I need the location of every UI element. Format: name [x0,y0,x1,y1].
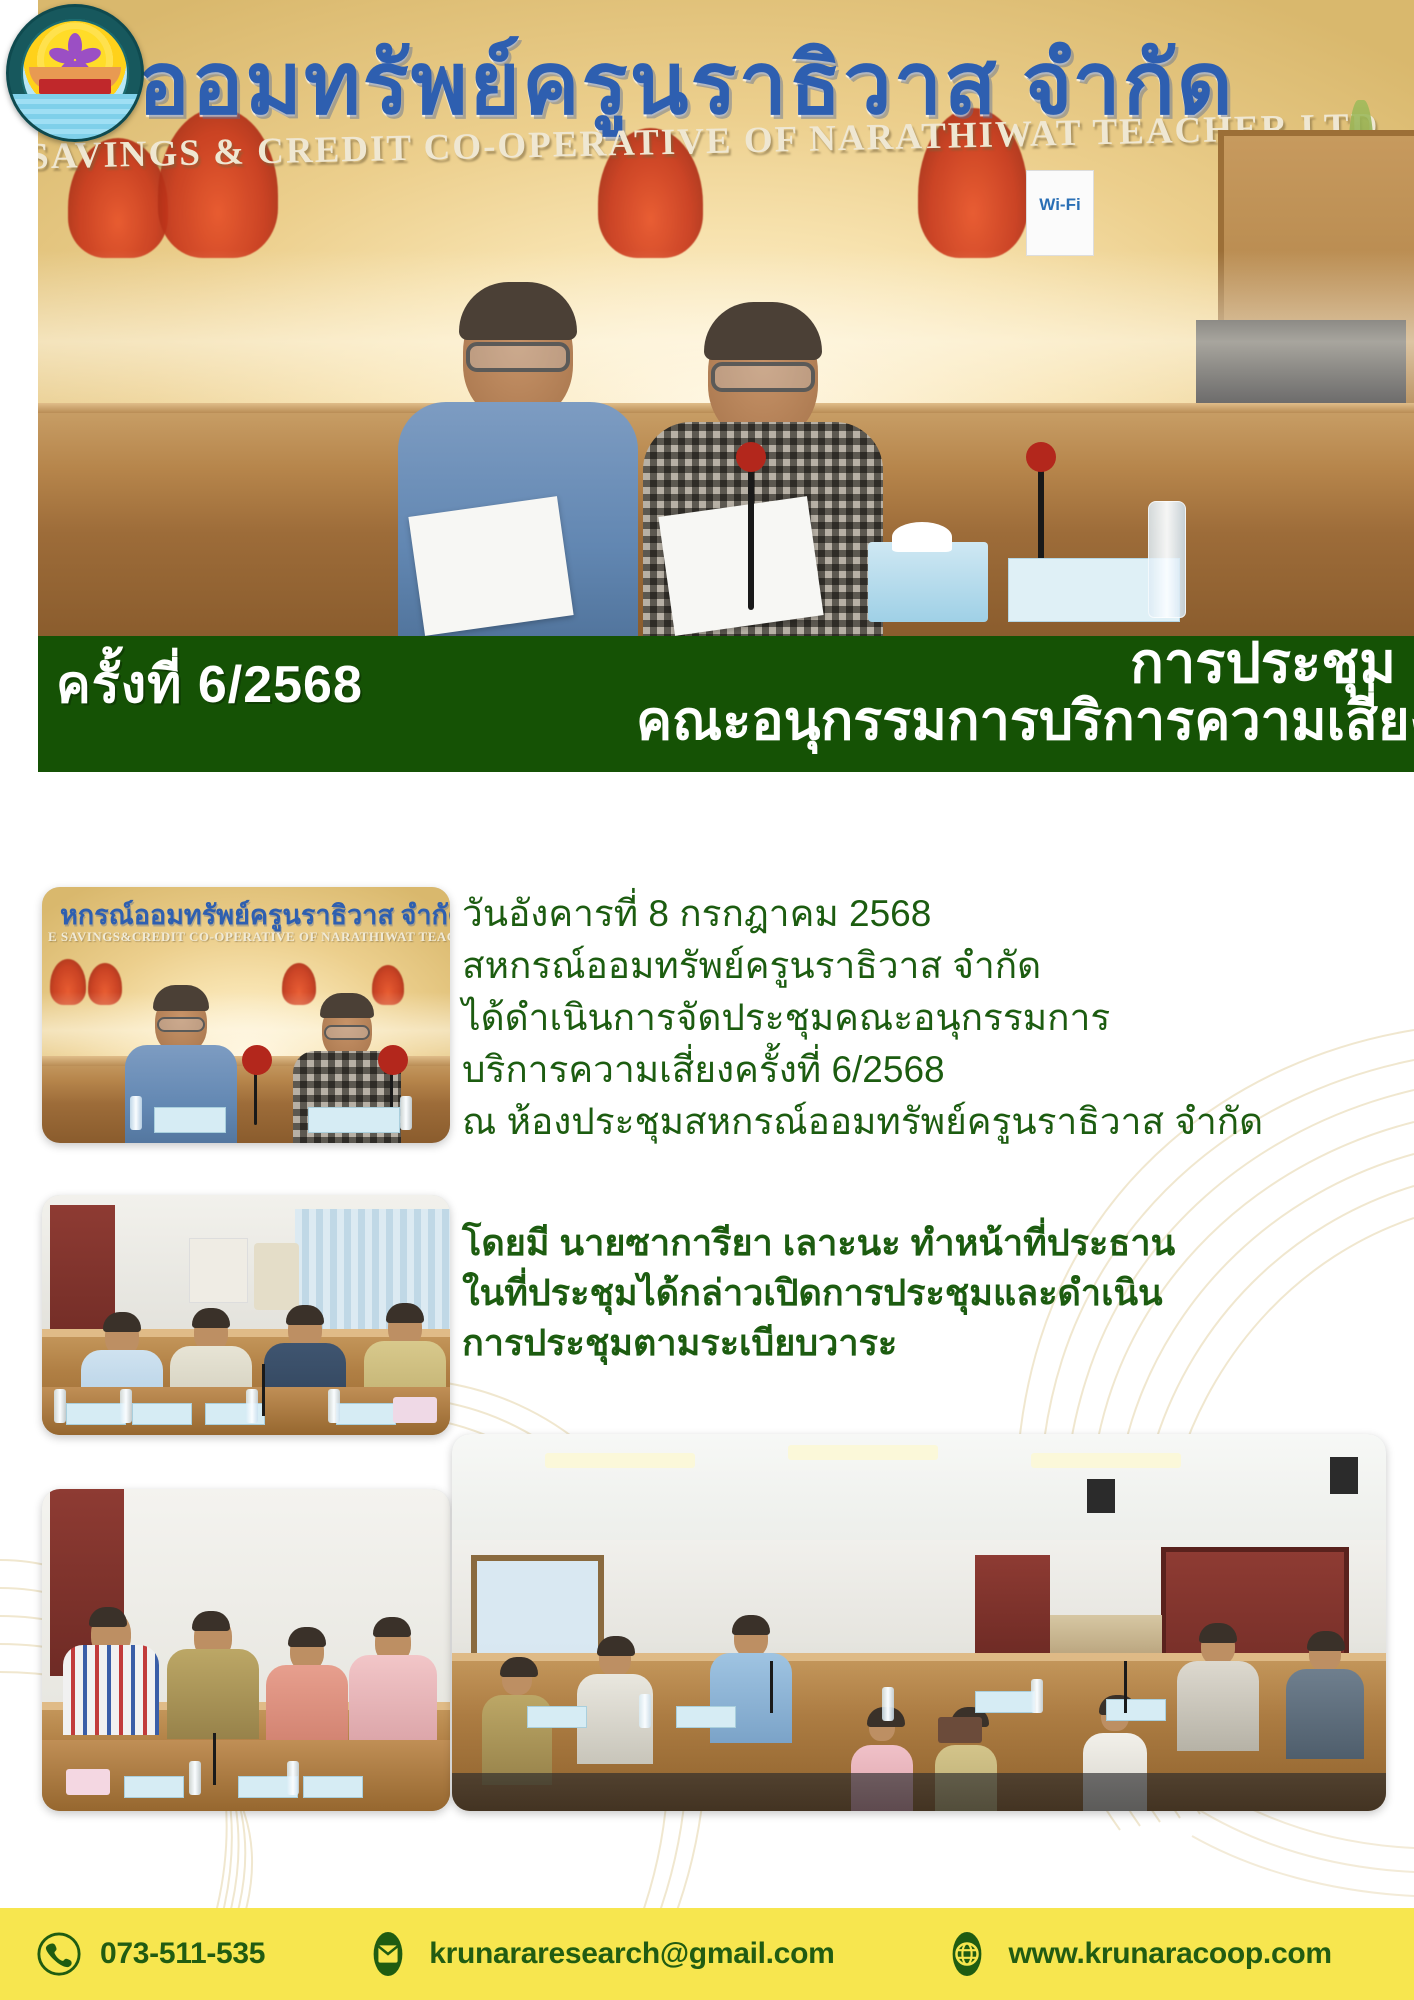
paragraph1-line-2: สหกรณ์ออมทรัพย์ครูนราธิวาส จำกัด [462,940,1402,992]
paragraph2-line-1: โดยมี นายซาการียา เลาะนะ ทำหน้าที่ประธาน [462,1218,1402,1268]
hero-section: ออมทรัพย์ครูนราธิวาส จำกัด SAVINGS & CRE… [0,0,1414,660]
cooperative-logo [6,4,144,142]
phone-icon [36,1931,82,1977]
paragraph2-line-3: การประชุมตามระเบียบวาระ [462,1318,1402,1368]
footer-contact-website[interactable]: www.krunaracoop.com [944,1931,1331,1977]
paragraph-meeting-details: วันอังคารที่ 8 กรกฎาคม 2568 สหกรณ์ออมทรั… [462,888,1402,1148]
photo-meeting-room-wide [452,1434,1386,1811]
photo-members-left [42,1489,450,1811]
banner-title-line2: คณะอนุกรรมการบริการความเสี่ยง [636,693,1396,750]
ceiling-speaker-icon [1330,1457,1358,1495]
phone-number-text: 073-511-535 [100,1937,265,1971]
email-address-text: krunararesearch@gmail.com [429,1937,834,1971]
banner-title-line1: การประชุม [636,634,1396,693]
website-url-text: www.krunaracoop.com [1008,1937,1331,1971]
footer-contact-phone[interactable]: 073-511-535 [36,1931,265,1977]
tissue-box [868,542,988,622]
hero-meeting-photo: ออมทรัพย์ครูนราธิวาส จำกัด SAVINGS & CRE… [38,0,1414,640]
paragraph2-line-2: ในที่ประชุมได้กล่าวเปิดการประชุมและดำเนิ… [462,1268,1402,1318]
contact-footer: 073-511-535 krunararesearch@gmail.com ww… [0,1908,1414,2000]
paragraph1-line-5: ณ ห้องประชุมสหกรณ์ออมทรัพย์ครูนราธิวาส จ… [462,1096,1402,1148]
wifi-sign-icon [1026,170,1094,256]
occurrence-label: ครั้งที่ 6/2568 [56,642,363,725]
paragraph-chairperson: โดยมี นายซาการียา เลาะนะ ทำหน้าที่ประธาน… [462,1218,1402,1368]
paragraph1-line-1: วันอังคารที่ 8 กรกฎาคม 2568 [462,888,1402,940]
footer-contact-email[interactable]: krunararesearch@gmail.com [365,1931,834,1977]
thumb-sign-english-text: E SAVINGS&CREDIT CO-OPERATIVE OF NARATHI… [48,929,450,945]
photo-committee-row [42,1195,450,1435]
water-bottle [1148,501,1186,618]
wooden-door [1218,130,1414,442]
photo-head-table: หกรณ์ออมทรัพย์ครูนราธิวาส จำกัด E SAVING… [42,887,450,1143]
banner-title-group: การประชุม คณะอนุกรรมการบริการความเสี่ยง [636,634,1396,749]
paragraph1-line-3: ได้ดำเนินการจัดประชุมคณะอนุกรรมการ [462,992,1402,1044]
hero-person-secretary [618,310,908,640]
microphone-icon [748,460,754,610]
title-banner: ครั้งที่ 6/2568 การประชุม คณะอนุกรรมการบ… [38,636,1414,772]
globe-icon [944,1931,990,1977]
paragraph1-line-4: บริการความเสี่ยงครั้งที่ 6/2568 [462,1044,1402,1096]
email-icon [365,1931,411,1977]
ceiling-speaker-icon [1087,1479,1115,1513]
